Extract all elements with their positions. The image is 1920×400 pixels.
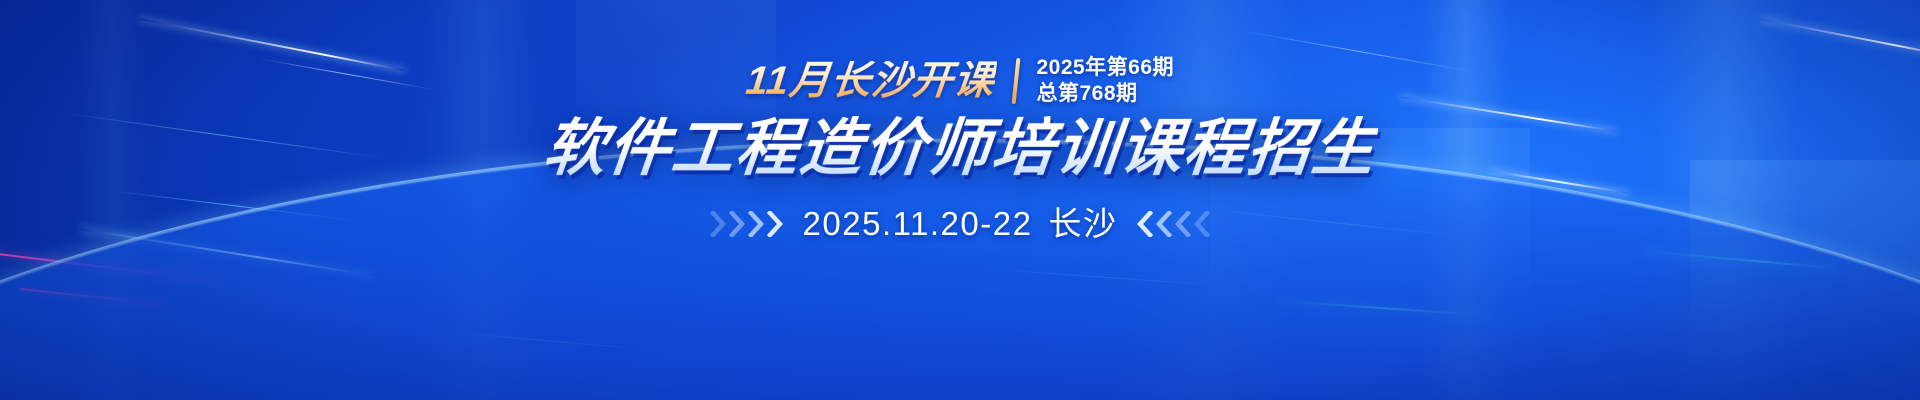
- chevron-left-icon: [1156, 211, 1172, 237]
- event-date: 2025.11.20-22: [803, 205, 1033, 242]
- chevron-right-icon: [710, 211, 726, 237]
- date-row: 2025.11.20-22长沙: [710, 207, 1211, 240]
- chevron-right-icon: [748, 211, 764, 237]
- chevron-left-icon: [1194, 211, 1210, 237]
- chevron-right-icon: [767, 211, 783, 237]
- issue-total-label: 总第768期: [1036, 82, 1174, 107]
- vertical-bar-icon: [1012, 58, 1021, 104]
- course-promo-banner: 11月长沙开课 2025年第66期 总第768期 软件工程造价师培训课程招生: [0, 0, 1920, 400]
- eyebrow-row: 11月长沙开课 2025年第66期 总第768期: [746, 52, 1174, 110]
- banner-content: 11月长沙开课 2025年第66期 总第768期 软件工程造价师培训课程招生: [0, 0, 1920, 400]
- eyebrow-headline: 11月长沙开课: [744, 61, 997, 101]
- chevron-right-icon: [729, 211, 745, 237]
- page-title: 软件工程造价师培训课程招生: [541, 116, 1380, 181]
- event-date-city: 2025.11.20-22长沙: [803, 207, 1118, 240]
- chevron-left-icon: [1137, 211, 1153, 237]
- issue-year-label: 2025年第66期: [1036, 56, 1174, 81]
- event-city: 长沙: [1048, 205, 1117, 242]
- chevron-right-group-icon: [710, 211, 783, 237]
- issue-info: 2025年第66期 总第768期: [1036, 56, 1174, 107]
- chevron-left-group-icon: [1137, 211, 1210, 237]
- chevron-left-icon: [1175, 211, 1191, 237]
